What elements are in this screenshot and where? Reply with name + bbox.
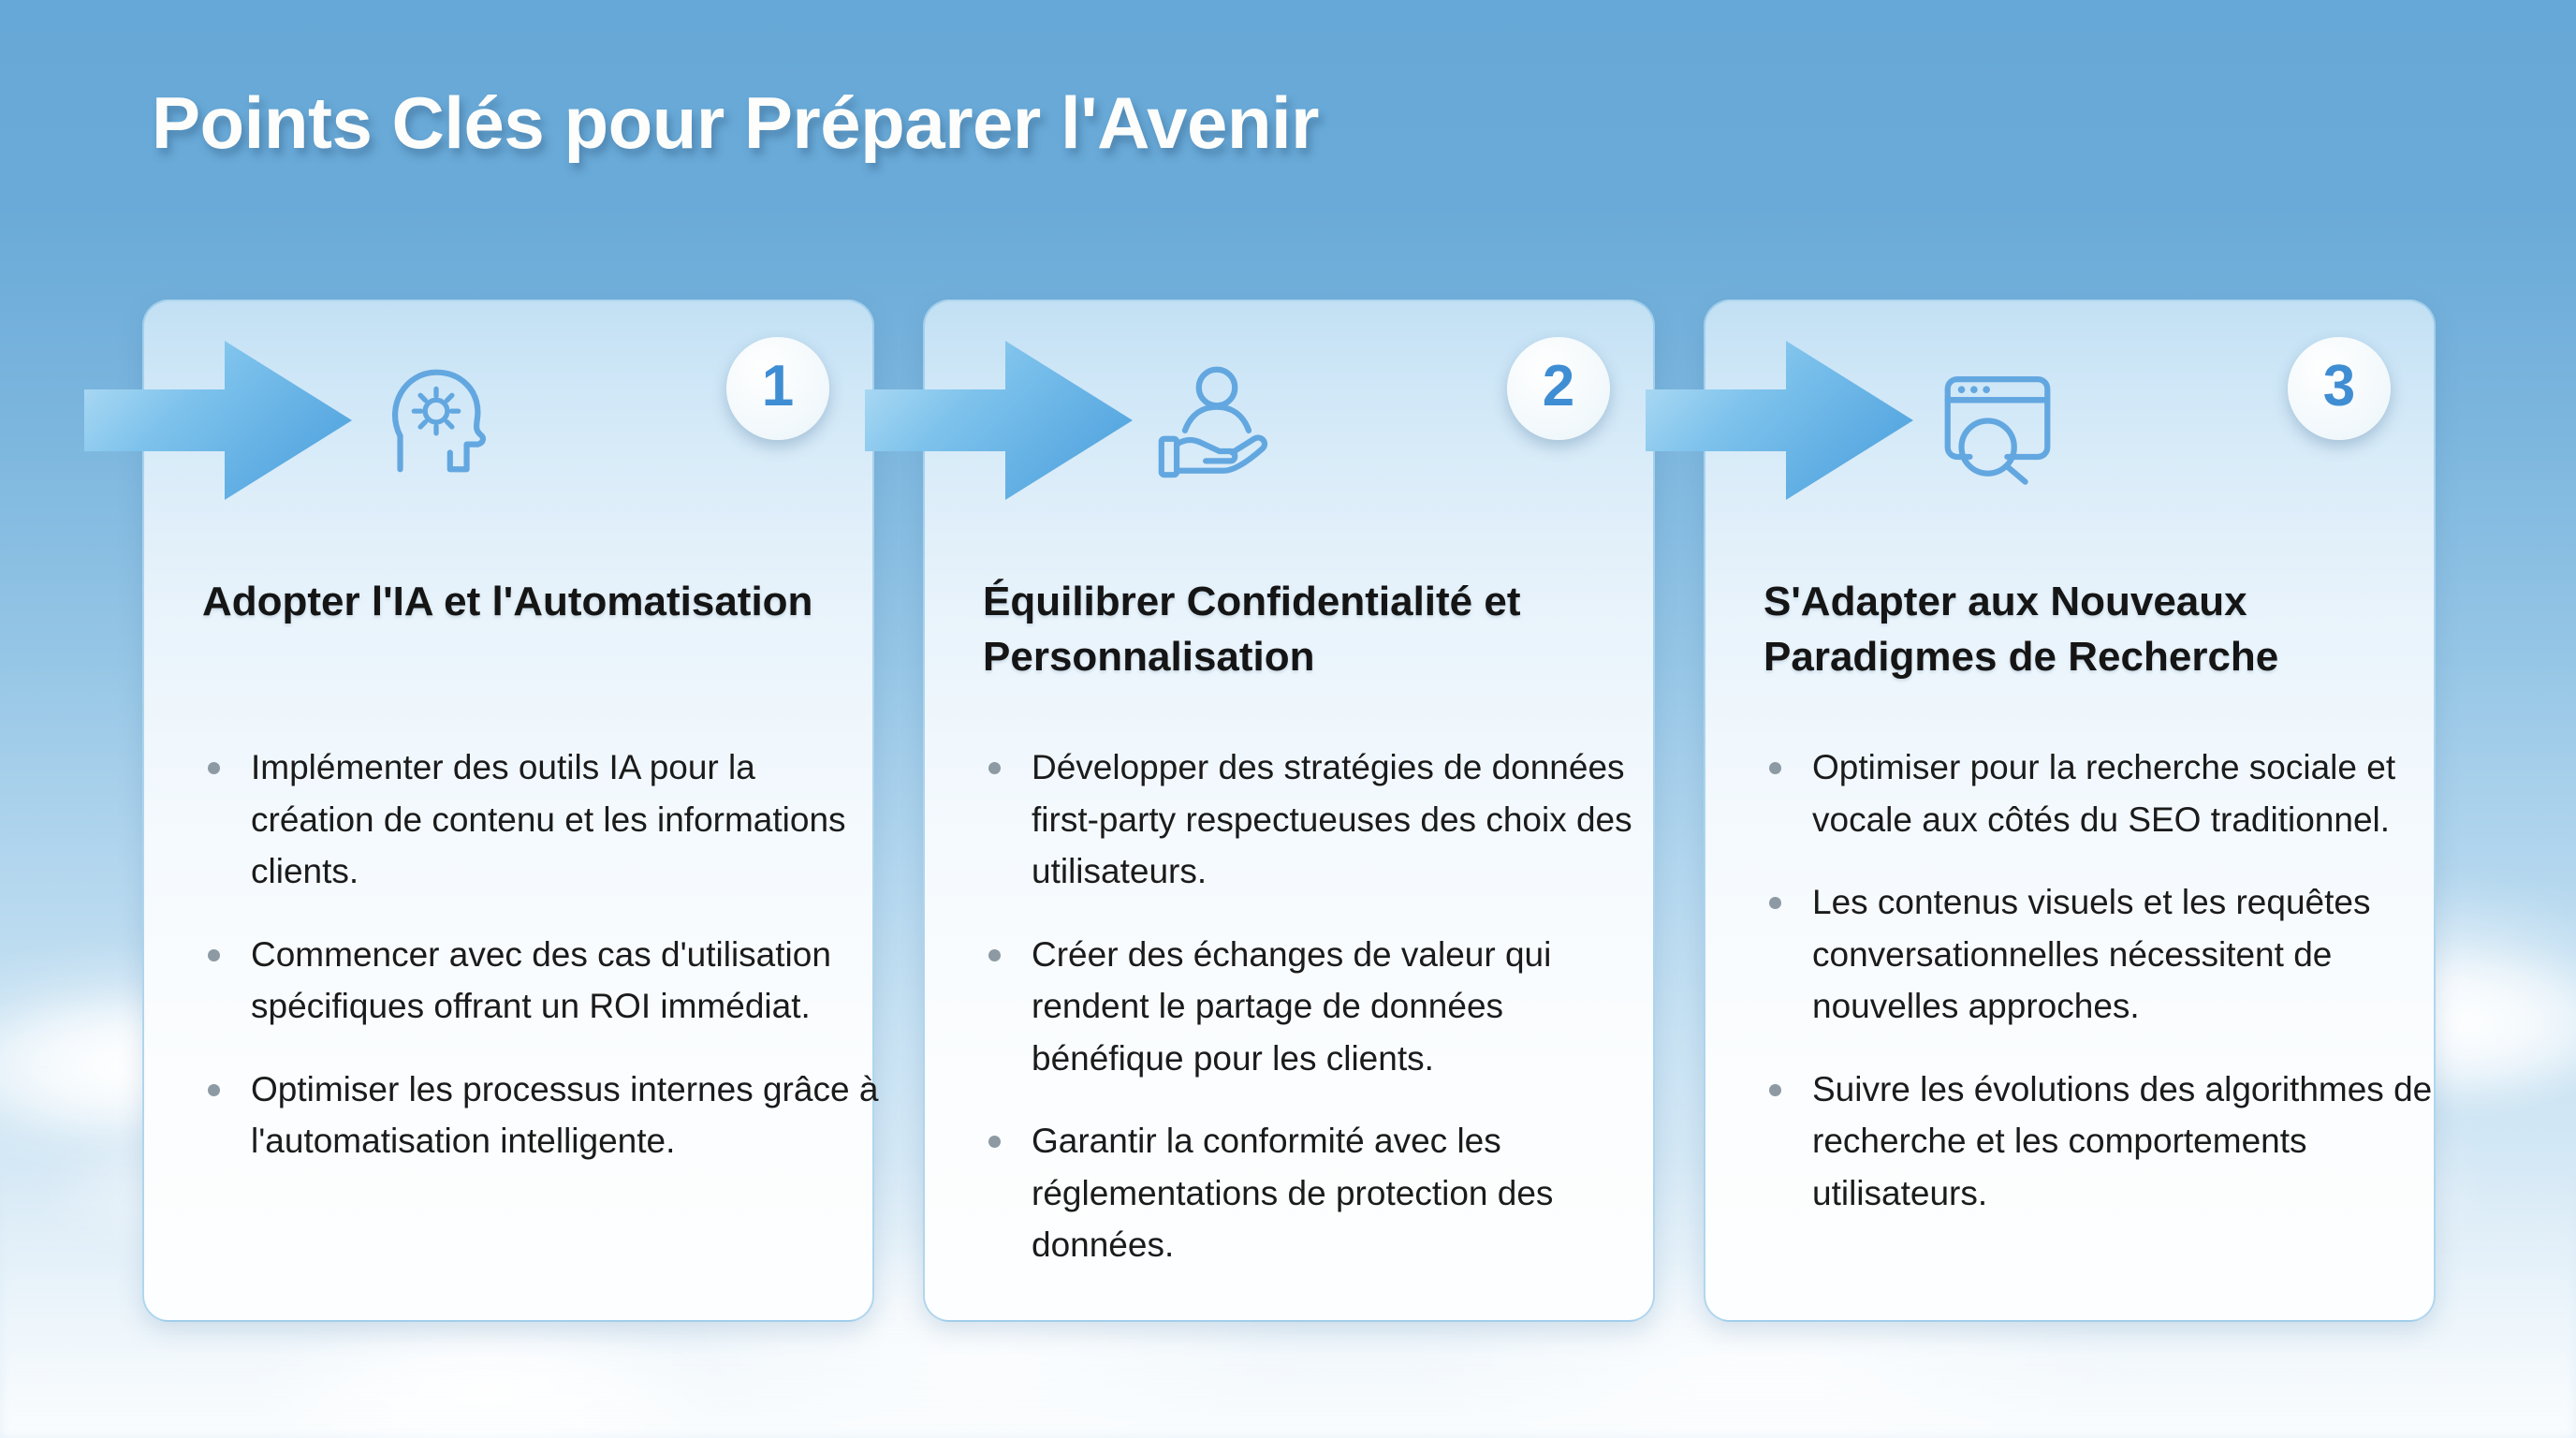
bullet-item: Les contenus visuels et les requêtes con… xyxy=(1752,876,2445,1033)
step-number-badge: 3 xyxy=(2288,337,2391,440)
key-point-card-1[interactable]: 1 Adopter l'IA et l'Automatisation Implé… xyxy=(142,300,874,1322)
step-number-badge: 2 xyxy=(1507,337,1610,440)
card-header-area: 1 xyxy=(144,301,872,519)
bullet-item: Implémenter des outils IA pour la créati… xyxy=(191,741,884,898)
key-point-card-2[interactable]: 2 Équilibrer Confidentialité et Personna… xyxy=(923,300,1655,1322)
step-number: 3 xyxy=(2323,358,2355,416)
cloud-shape xyxy=(243,1311,730,1438)
right-arrow-icon xyxy=(1646,335,1917,506)
bullet-item: Optimiser les processus internes grâce à… xyxy=(191,1064,884,1167)
step-number-badge: 1 xyxy=(726,337,829,440)
person-in-hand-icon xyxy=(1148,350,1286,489)
bullet-item: Garantir la conformité avec les réglemen… xyxy=(972,1115,1664,1271)
card-bullet-list: Implémenter des outils IA pour la créati… xyxy=(191,741,884,1198)
page-title: Points Clés pour Préparer l'Avenir xyxy=(152,81,1319,166)
card-bullet-list: Optimiser pour la recherche sociale et v… xyxy=(1752,741,2445,1250)
step-number: 1 xyxy=(762,358,794,416)
card-header-area: 2 xyxy=(925,301,1653,519)
bullet-item: Créer des échanges de valeur qui rendent… xyxy=(972,929,1664,1085)
bullet-item: Optimiser pour la recherche sociale et v… xyxy=(1752,741,2445,845)
right-arrow-icon xyxy=(865,335,1136,506)
slide-canvas: Points Clés pour Préparer l'Avenir xyxy=(0,0,2576,1438)
bullet-item: Suivre les évolutions des algorithmes de… xyxy=(1752,1064,2445,1220)
bullet-item: Développer des stratégies de données fir… xyxy=(972,741,1664,898)
right-arrow-icon xyxy=(84,335,356,506)
bullet-item: Commencer avec des cas d'utilisation spé… xyxy=(191,929,884,1033)
card-heading: Adopter l'IA et l'Automatisation xyxy=(202,575,857,630)
card-heading: Équilibrer Confidentialité et Personnali… xyxy=(983,575,1638,684)
head-with-gear-icon xyxy=(367,350,505,489)
card-header-area: 3 xyxy=(1705,301,2434,519)
card-bullet-list: Développer des stratégies de données fir… xyxy=(972,741,1664,1302)
step-number: 2 xyxy=(1543,358,1574,416)
key-point-card-3[interactable]: 3 S'Adapter aux Nouveaux Paradigmes de R… xyxy=(1704,300,2436,1322)
browser-search-icon xyxy=(1928,350,2067,489)
card-heading: S'Adapter aux Nouveaux Paradigmes de Rec… xyxy=(1764,575,2419,684)
